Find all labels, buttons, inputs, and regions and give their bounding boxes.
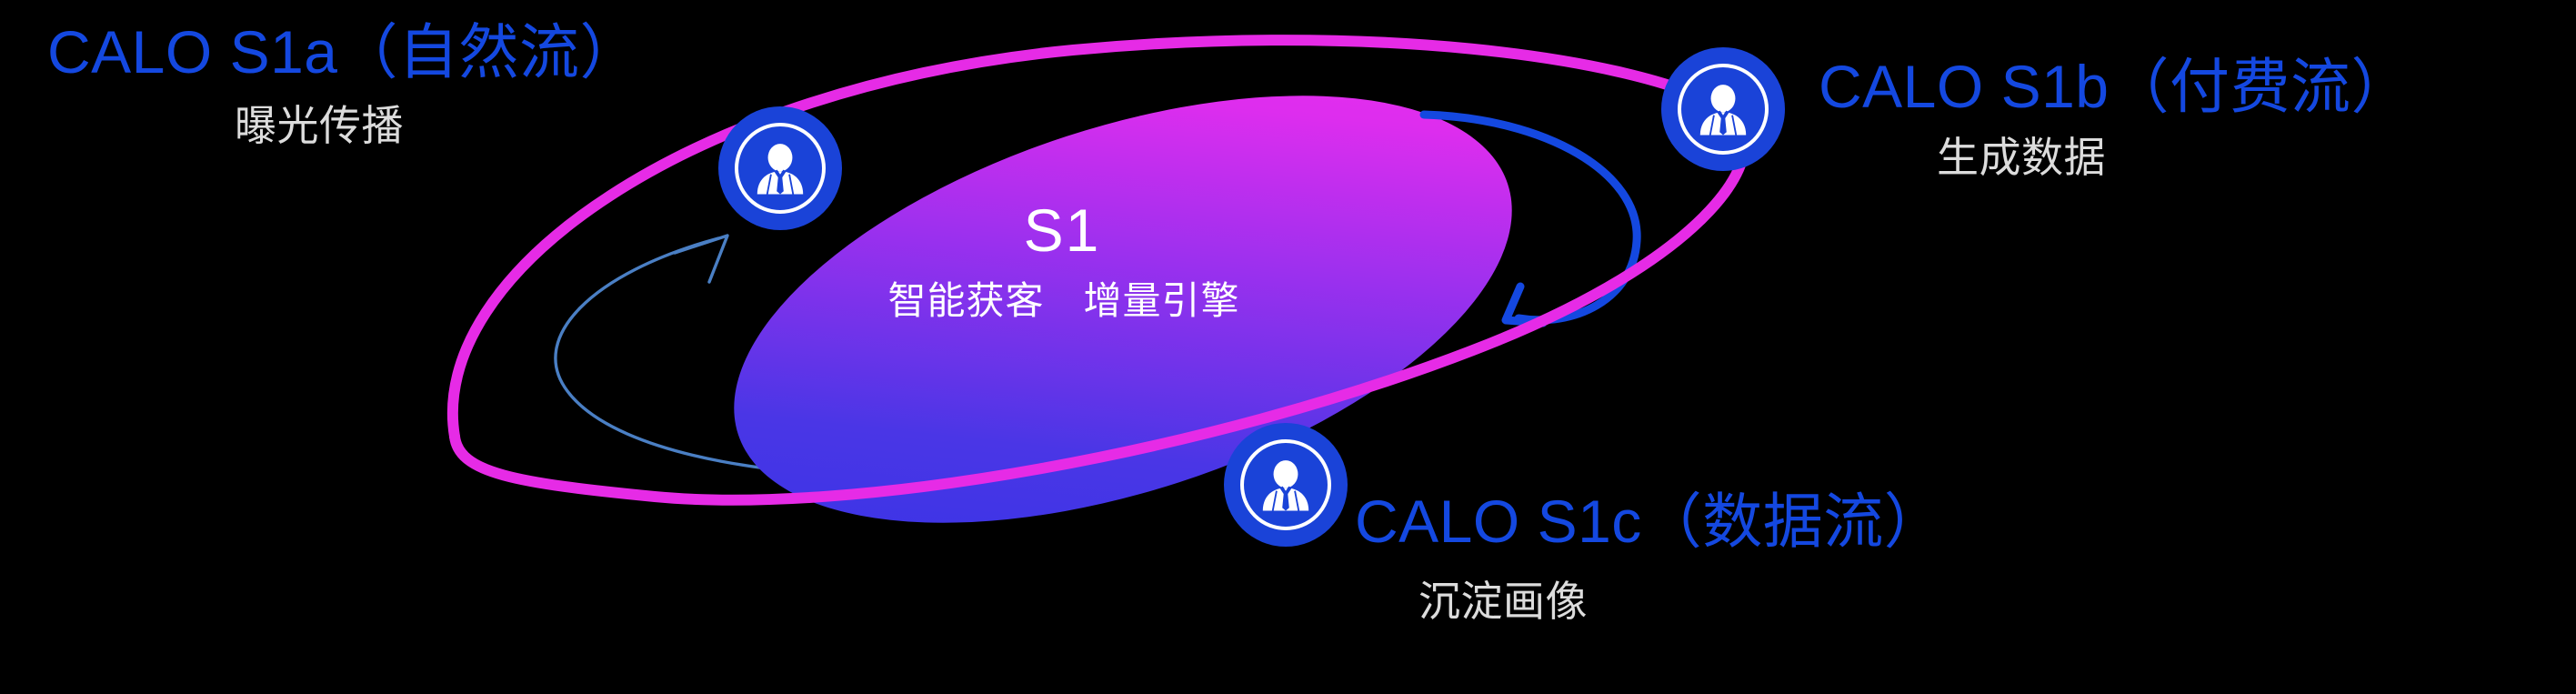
flow-caption-s1c: 沉淀画像 xyxy=(1418,580,1588,622)
flow-caption-s1a: 曝光传播 xyxy=(235,105,404,146)
diagram-canvas: S1 智能获客 增量引擎 CALO S1a（自然流） 曝光传播 CALO S1b… xyxy=(0,0,2576,694)
flow-node-s1b[interactable] xyxy=(1661,47,1785,171)
flow-caption-s1b: 生成数据 xyxy=(1937,136,2106,178)
flow-title-s1c: CALO S1c（数据流） xyxy=(1355,491,1944,551)
flow-title-s1b: CALO S1b（付费流） xyxy=(1819,56,2411,116)
flow-node-s1c[interactable] xyxy=(1224,423,1348,547)
flow-node-s1a[interactable] xyxy=(718,106,842,230)
flow-title-s1a: CALO S1a（自然流） xyxy=(47,22,640,82)
